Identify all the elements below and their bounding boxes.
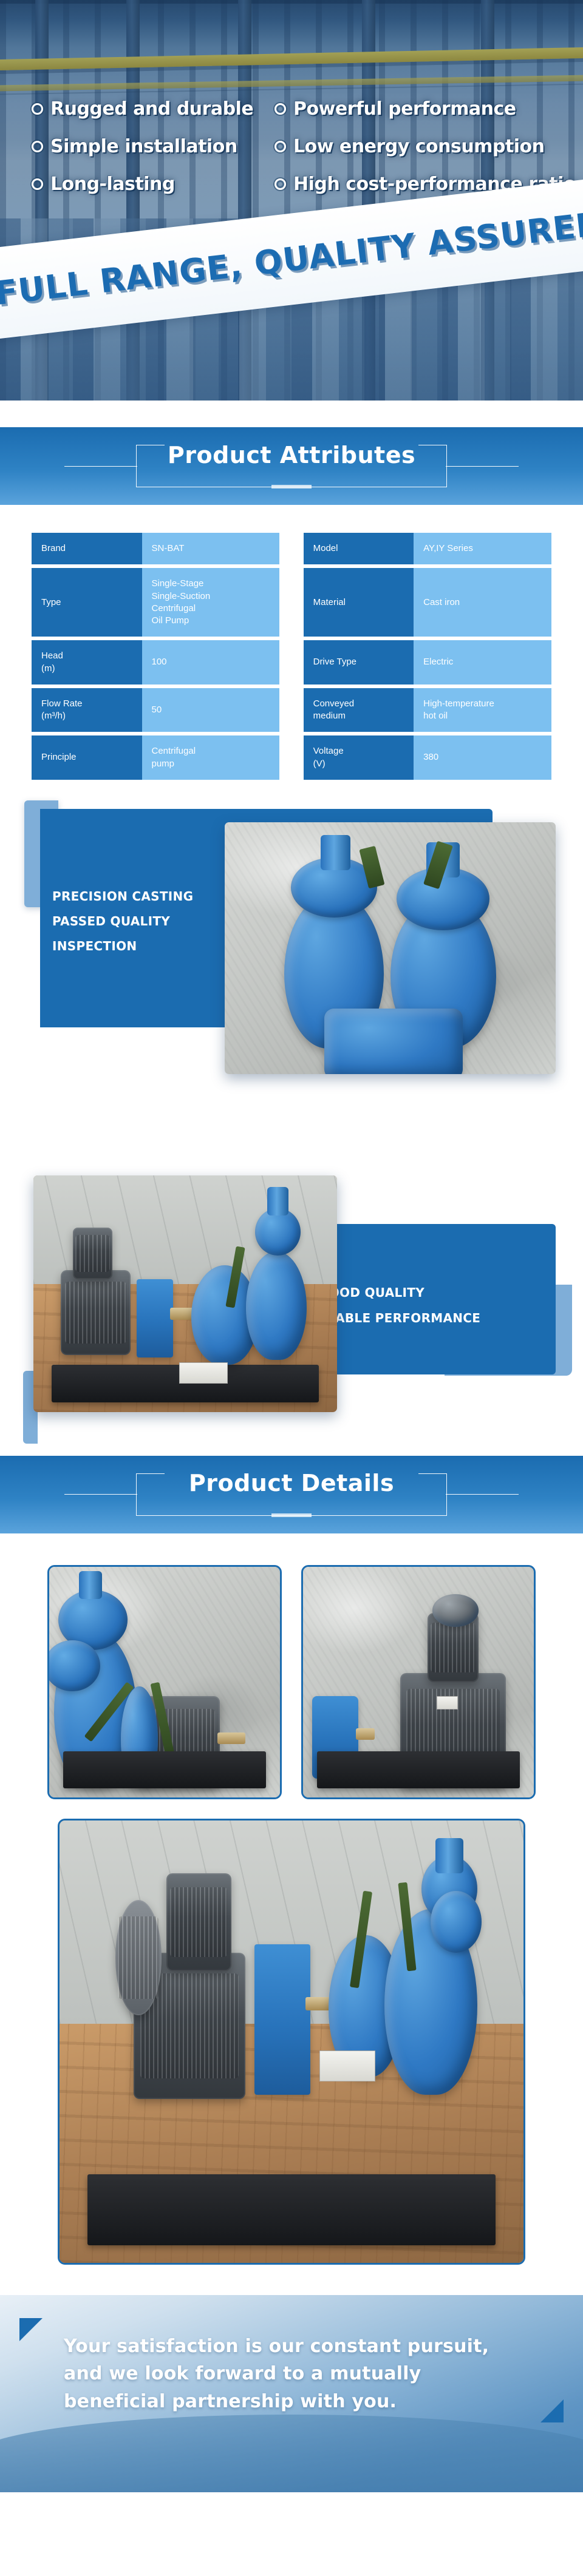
feature-line: GOOD QUALITY xyxy=(319,1280,537,1305)
spacer xyxy=(0,401,583,427)
attr-value: Single-Stage Single-Suction Centrifugal … xyxy=(142,568,280,637)
circle-outline-icon xyxy=(274,178,286,190)
hero-bullet-list: Rugged and durable Powerful performance … xyxy=(32,90,565,203)
table-row: Type Single-Stage Single-Suction Centrif… xyxy=(32,568,551,637)
details-row-top xyxy=(32,1565,551,1799)
spacer xyxy=(0,2284,583,2295)
cell-divider xyxy=(279,533,303,564)
hero-banner: Rugged and durable Powerful performance … xyxy=(0,0,583,401)
attr-key: Voltage (V) xyxy=(304,735,414,780)
spacer xyxy=(0,789,583,800)
attr-key: Type xyxy=(32,568,142,637)
pump-full-assembly-photo[interactable] xyxy=(58,1819,525,2265)
pump-motor-assembly-photo xyxy=(33,1175,337,1412)
feature-block-good-quality: GOOD QUALITY STABLE PERFORMANCE xyxy=(0,1140,583,1456)
attr-key: Brand xyxy=(32,533,142,564)
attr-value: Centrifugal pump xyxy=(142,735,280,780)
header-rule-right xyxy=(446,1494,519,1495)
section-header-attributes: Product Attributes xyxy=(0,427,583,505)
table-row: Head (m) 100 Drive Type Electric xyxy=(32,640,551,685)
circle-outline-icon xyxy=(32,178,43,190)
attributes-table: Brand SN-BAT Model AY,IY Series Type Sin… xyxy=(32,529,551,783)
product-details-gallery xyxy=(0,1533,583,2265)
feature-text: GOOD QUALITY STABLE PERFORMANCE xyxy=(319,1280,537,1331)
hero-bullet-label: Simple installation xyxy=(50,136,237,157)
attr-value: Cast iron xyxy=(414,568,551,637)
attr-key: Head (m) xyxy=(32,640,142,685)
attr-key: Model xyxy=(304,533,414,564)
feature-line: PASSED QUALITY xyxy=(52,909,253,934)
cell-divider xyxy=(279,688,303,732)
attr-key: Principle xyxy=(32,735,142,780)
hero-bullet-item: Long-lasting xyxy=(32,174,274,195)
section-title: Product Attributes xyxy=(168,442,415,468)
circle-outline-icon xyxy=(32,141,43,152)
details-row-bottom xyxy=(32,1819,551,2265)
hero-bullet-item: Rugged and durable xyxy=(32,98,274,120)
feature-line: INSPECTION xyxy=(52,934,253,959)
circle-outline-icon xyxy=(274,141,286,152)
triangle-accent-icon xyxy=(19,2318,43,2341)
attributes-table-wrap: Brand SN-BAT Model AY,IY Series Type Sin… xyxy=(0,505,583,789)
attr-value: AY,IY Series xyxy=(414,533,551,564)
table-row: Principle Centrifugal pump Voltage (V) 3… xyxy=(32,735,551,780)
attr-value: 380 xyxy=(414,735,551,780)
header-tick xyxy=(271,485,312,488)
hero-bullet-item: Simple installation xyxy=(32,136,274,157)
hero-bullet-item: Low energy consumption xyxy=(274,136,576,157)
header-rule-left xyxy=(64,466,137,467)
hero-bullet-label: Long-lasting xyxy=(50,174,175,195)
section-header-details: Product Details xyxy=(0,1456,583,1533)
footer-message: Your satisfaction is our constant pursui… xyxy=(64,2333,544,2416)
attr-key: Material xyxy=(304,568,414,637)
section-title: Product Details xyxy=(189,1470,394,1496)
pump-casing-closeup-photo xyxy=(225,822,556,1074)
cell-divider xyxy=(279,640,303,685)
attr-value: Electric xyxy=(414,640,551,685)
footer-line: beneficial partnership with you. xyxy=(64,2388,544,2416)
attr-value: SN-BAT xyxy=(142,533,280,564)
cell-divider xyxy=(279,735,303,780)
hero-bullet-label: Rugged and durable xyxy=(50,98,253,120)
footer-line: and we look forward to a mutually xyxy=(64,2360,544,2388)
attr-value: 100 xyxy=(142,640,280,685)
hero-bullet-label: Powerful performance xyxy=(293,98,516,120)
footer-banner: Your satisfaction is our constant pursui… xyxy=(0,2295,583,2492)
header-frame: Product Attributes xyxy=(136,445,447,487)
feature-block-precision-casting: PRECISION CASTING PASSED QUALITY INSPECT… xyxy=(0,800,583,1140)
attr-key: Drive Type xyxy=(304,640,414,685)
cell-divider xyxy=(279,568,303,637)
circle-outline-icon xyxy=(274,103,286,115)
header-rule-right xyxy=(446,466,519,467)
feature-text: PRECISION CASTING PASSED QUALITY INSPECT… xyxy=(52,884,253,959)
attr-value: High-temperature hot oil xyxy=(414,688,551,732)
header-rule-left xyxy=(64,1494,137,1495)
hero-bullet-label: Low energy consumption xyxy=(293,136,545,157)
hero-bullet-item: Powerful performance xyxy=(274,98,576,120)
table-row: Brand SN-BAT Model AY,IY Series xyxy=(32,533,551,564)
pump-detail-right-photo[interactable] xyxy=(301,1565,536,1799)
table-row: Flow Rate (m³/h) 50 Conveyed medium High… xyxy=(32,688,551,732)
pump-detail-left-photo[interactable] xyxy=(47,1565,282,1799)
attr-key: Flow Rate (m³/h) xyxy=(32,688,142,732)
attr-value: 50 xyxy=(142,688,280,732)
header-tick xyxy=(271,1513,312,1517)
circle-outline-icon xyxy=(32,103,43,115)
product-detail-page: Rugged and durable Powerful performance … xyxy=(0,0,583,2492)
feature-line: STABLE PERFORMANCE xyxy=(319,1305,537,1331)
feature-line: PRECISION CASTING xyxy=(52,884,253,909)
triangle-accent-icon xyxy=(540,2399,564,2422)
header-frame: Product Details xyxy=(136,1473,447,1516)
footer-line: Your satisfaction is our constant pursui… xyxy=(64,2333,544,2361)
attr-key: Conveyed medium xyxy=(304,688,414,732)
